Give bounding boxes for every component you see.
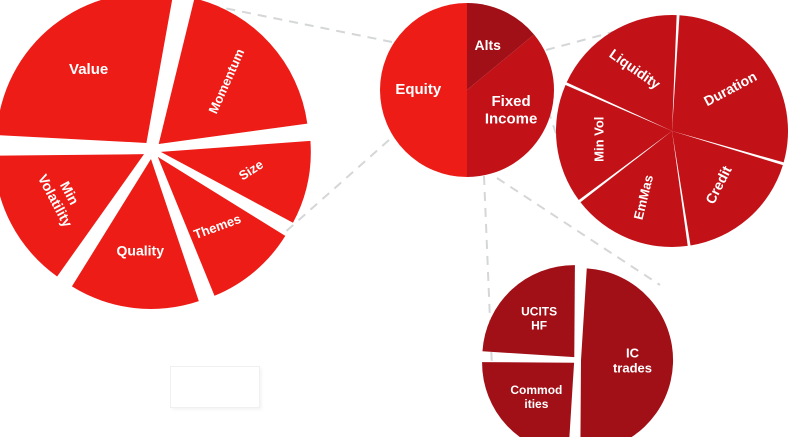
pie-slice-label-equity: Equity — [395, 81, 441, 98]
alts-breakdown-pie: ICtradesCommoditiesUCITSHF — [482, 265, 673, 437]
pie-layer: ValueMinVolatilityQualityThemesSizeMomen… — [0, 0, 788, 437]
fixed-income-breakdown-pie: DurationCreditEmMasMin VolLiquidity — [556, 15, 788, 247]
pie-slice-label-min-vol: Min Vol — [592, 117, 607, 162]
pie-slice-label-value: Value — [69, 61, 108, 78]
asset-allocation-pie: EquityFixedIncomeAlts — [380, 3, 554, 177]
diagram-canvas: ValueMinVolatilityQualityThemesSizeMomen… — [0, 0, 790, 437]
equity-breakdown-pie: ValueMinVolatilityQualityThemesSizeMomen… — [0, 0, 311, 309]
pie-slice-label-quality: Quality — [117, 242, 165, 258]
nested-pie-diagram: ValueMinVolatilityQualityThemesSizeMomen… — [0, 0, 790, 437]
blank-placeholder-box — [170, 366, 260, 408]
pie-slice-label-fixed-income: FixedIncome — [485, 93, 538, 127]
pie-slice-label-alts: Alts — [475, 37, 502, 53]
